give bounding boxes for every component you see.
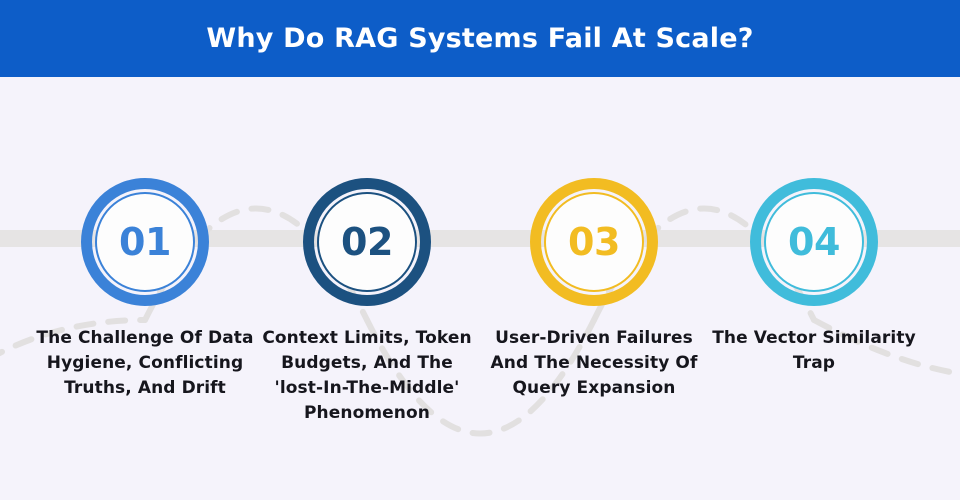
page-title: Why Do RAG Systems Fail At Scale? [206,25,753,52]
step-item-04[interactable]: 04 The Vector Similarity Trap [703,77,925,500]
step-number-01: 01 [119,223,171,261]
step-item-02[interactable]: 02 Context Limits, Token Budgets, And Th… [256,77,478,500]
step-item-03[interactable]: 03 User-Driven Failures And The Necessit… [483,77,705,500]
step-badge-04[interactable]: 04 [750,178,878,306]
step-caption-02: Context Limits, Token Budgets, And The '… [256,326,478,426]
step-badge-03[interactable]: 03 [530,178,658,306]
step-number-02: 02 [341,223,393,261]
header-banner: Why Do RAG Systems Fail At Scale? [0,0,960,77]
step-number-03: 03 [568,223,620,261]
step-item-01[interactable]: 01 The Challenge Of Data Hygiene, Confli… [34,77,256,500]
steps-row: 01 The Challenge Of Data Hygiene, Confli… [0,77,960,500]
step-caption-03: User-Driven Failures And The Necessity O… [483,326,705,401]
step-badge-02[interactable]: 02 [303,178,431,306]
step-caption-04: The Vector Similarity Trap [703,326,925,376]
infographic-root: Why Do RAG Systems Fail At Scale? 01 The… [0,0,960,500]
step-number-04: 04 [788,223,840,261]
step-badge-01[interactable]: 01 [81,178,209,306]
step-caption-01: The Challenge Of Data Hygiene, Conflicti… [34,326,256,401]
